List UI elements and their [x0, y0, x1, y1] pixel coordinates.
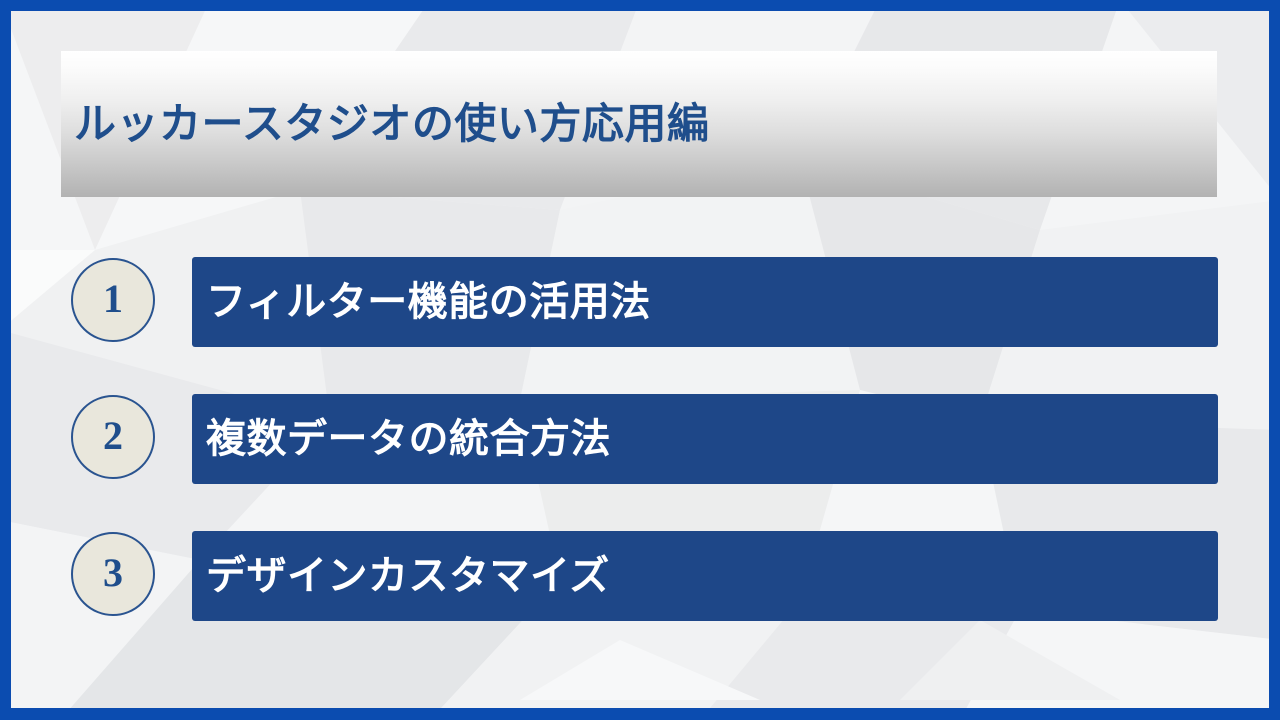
list-item-bar[interactable]: フィルター機能の活用法 [192, 257, 1218, 347]
step-number-text: 3 [103, 553, 123, 593]
list-item-bar[interactable]: デザインカスタマイズ [192, 531, 1218, 621]
list-item[interactable]: 2 複数データの統合方法 [0, 394, 1280, 484]
step-number-badge: 3 [71, 532, 155, 616]
list-item-label: デザインカスタマイズ [192, 556, 610, 596]
step-number-text: 1 [103, 279, 123, 319]
list-item[interactable]: 1 フィルター機能の活用法 [0, 257, 1280, 347]
presentation-slide: ルッカースタジオの使い方応用編 1 フィルター機能の活用法 2 複数データの統合… [0, 0, 1280, 720]
list-item-bar[interactable]: 複数データの統合方法 [192, 394, 1218, 484]
step-number-badge: 1 [71, 258, 155, 342]
step-number-badge: 2 [71, 395, 155, 479]
list-item[interactable]: 3 デザインカスタマイズ [0, 531, 1280, 621]
agenda-list: 1 フィルター機能の活用法 2 複数データの統合方法 3 デザインカスタマイズ [0, 0, 1280, 720]
step-number-text: 2 [103, 416, 123, 456]
list-item-label: 複数データの統合方法 [192, 419, 611, 459]
list-item-label: フィルター機能の活用法 [192, 282, 651, 322]
